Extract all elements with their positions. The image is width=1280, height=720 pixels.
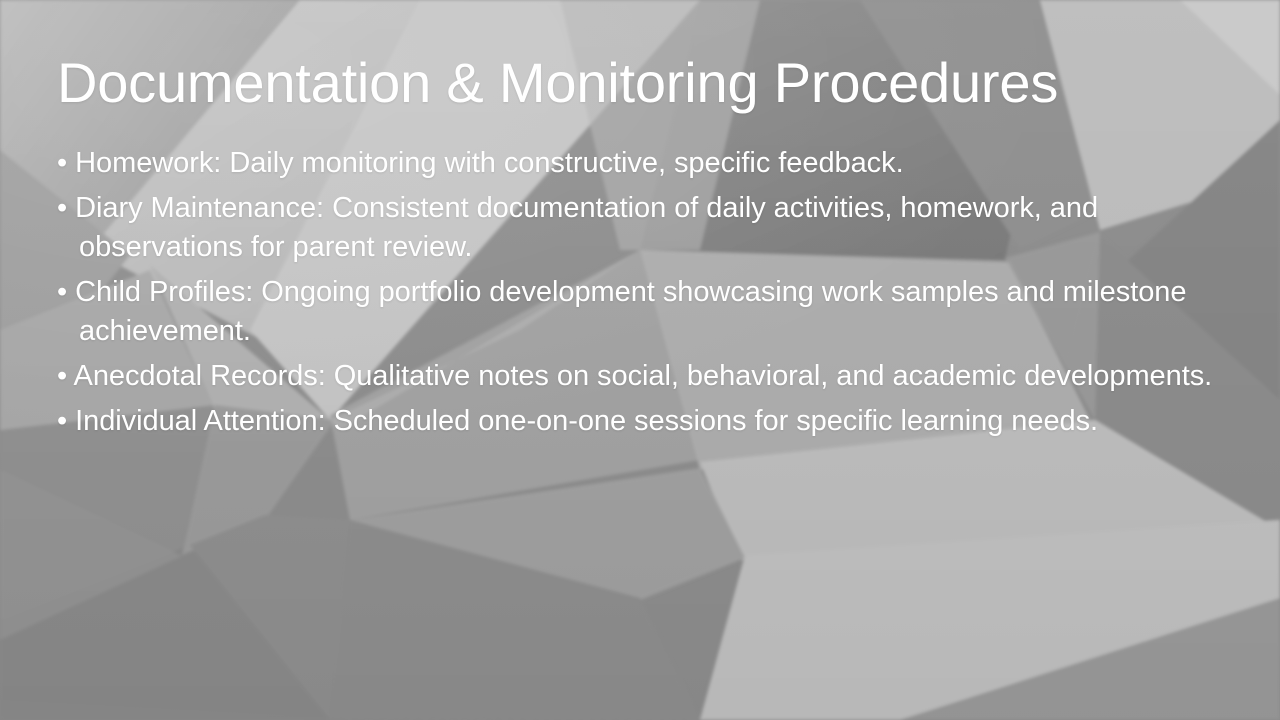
list-item-text: Homework: Daily monitoring with construc… [75, 147, 903, 179]
list-item: • Individual Attention: Scheduled one-on… [57, 402, 1225, 441]
bullet-marker-icon: • [57, 360, 67, 392]
bullet-marker-icon: • [57, 192, 67, 224]
bullet-marker-icon: • [57, 147, 67, 179]
list-item-text: Diary Maintenance: Consistent documentat… [75, 192, 1098, 263]
bullet-list: • Homework: Daily monitoring with constr… [57, 144, 1225, 447]
bullet-marker-icon: • [57, 276, 67, 308]
slide-title: Documentation & Monitoring Procedures [57, 52, 1227, 115]
list-item-text: Anecdotal Records: Qualitative notes on … [74, 360, 1213, 392]
list-item: • Diary Maintenance: Consistent document… [57, 189, 1225, 267]
list-item-text: Individual Attention: Scheduled one-on-o… [75, 405, 1098, 437]
list-item: • Child Profiles: Ongoing portfolio deve… [57, 273, 1225, 351]
list-item: • Homework: Daily monitoring with constr… [57, 144, 1225, 183]
bullet-marker-icon: • [57, 405, 67, 437]
slide-content: Documentation & Monitoring Procedures • … [0, 0, 1280, 720]
presentation-slide: Documentation & Monitoring Procedures • … [0, 0, 1280, 720]
list-item-text: Child Profiles: Ongoing portfolio develo… [75, 276, 1186, 347]
list-item: • Anecdotal Records: Qualitative notes o… [57, 357, 1225, 396]
